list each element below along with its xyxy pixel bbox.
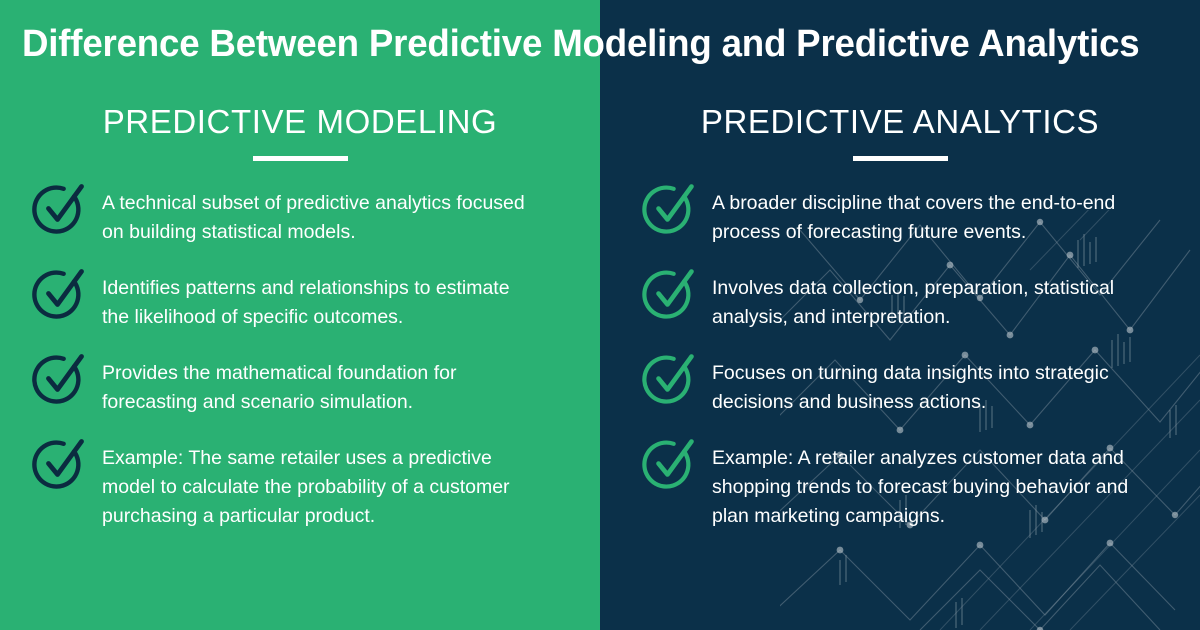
list-item-text: A broader discipline that covers the end… (712, 186, 1164, 247)
column-heading-right-text: PREDICTIVE ANALYTICS (600, 104, 1200, 141)
column-heading-left: PREDICTIVE MODELING (0, 104, 600, 161)
list-item: Provides the mathematical foundation for… (34, 356, 560, 417)
column-heading-left-rule (253, 156, 348, 161)
column-heading-right: PREDICTIVE ANALYTICS (600, 104, 1200, 161)
check-circle-icon (34, 267, 86, 319)
list-item-text: Example: The same retailer uses a predic… (102, 441, 532, 531)
check-circle-icon (34, 182, 86, 234)
check-circle-icon (34, 352, 86, 404)
check-circle-icon (644, 267, 696, 319)
list-item-text: Example: A retailer analyzes customer da… (712, 441, 1164, 531)
column-heading-left-text: PREDICTIVE MODELING (0, 104, 600, 141)
panel-predictive-analytics: PREDICTIVE ANALYTICS A broader disciplin… (600, 0, 1200, 630)
check-circle-icon (644, 352, 696, 404)
list-item: Focuses on turning data insights into st… (644, 356, 1172, 417)
list-item-text: Focuses on turning data insights into st… (712, 356, 1164, 417)
list-item-text: Identifies patterns and relationships to… (102, 271, 532, 332)
list-item: Example: The same retailer uses a predic… (34, 441, 560, 531)
panel-predictive-modeling: PREDICTIVE MODELING A technical subset o… (0, 0, 600, 630)
list-item: Identifies patterns and relationships to… (34, 271, 560, 332)
bullet-list-right: A broader discipline that covers the end… (600, 186, 1200, 555)
column-heading-right-rule (853, 156, 948, 161)
list-item: Example: A retailer analyzes customer da… (644, 441, 1172, 531)
list-item: A broader discipline that covers the end… (644, 186, 1172, 247)
list-item-text: Involves data collection, preparation, s… (712, 271, 1164, 332)
list-item-text: Provides the mathematical foundation for… (102, 356, 532, 417)
check-circle-icon (644, 437, 696, 489)
infographic-canvas: PREDICTIVE MODELING A technical subset o… (0, 0, 1200, 630)
bullet-list-left: A technical subset of predictive analyti… (0, 186, 600, 555)
check-circle-icon (644, 182, 696, 234)
list-item-text: A technical subset of predictive analyti… (102, 186, 532, 247)
list-item: A technical subset of predictive analyti… (34, 186, 560, 247)
check-circle-icon (34, 437, 86, 489)
list-item: Involves data collection, preparation, s… (644, 271, 1172, 332)
